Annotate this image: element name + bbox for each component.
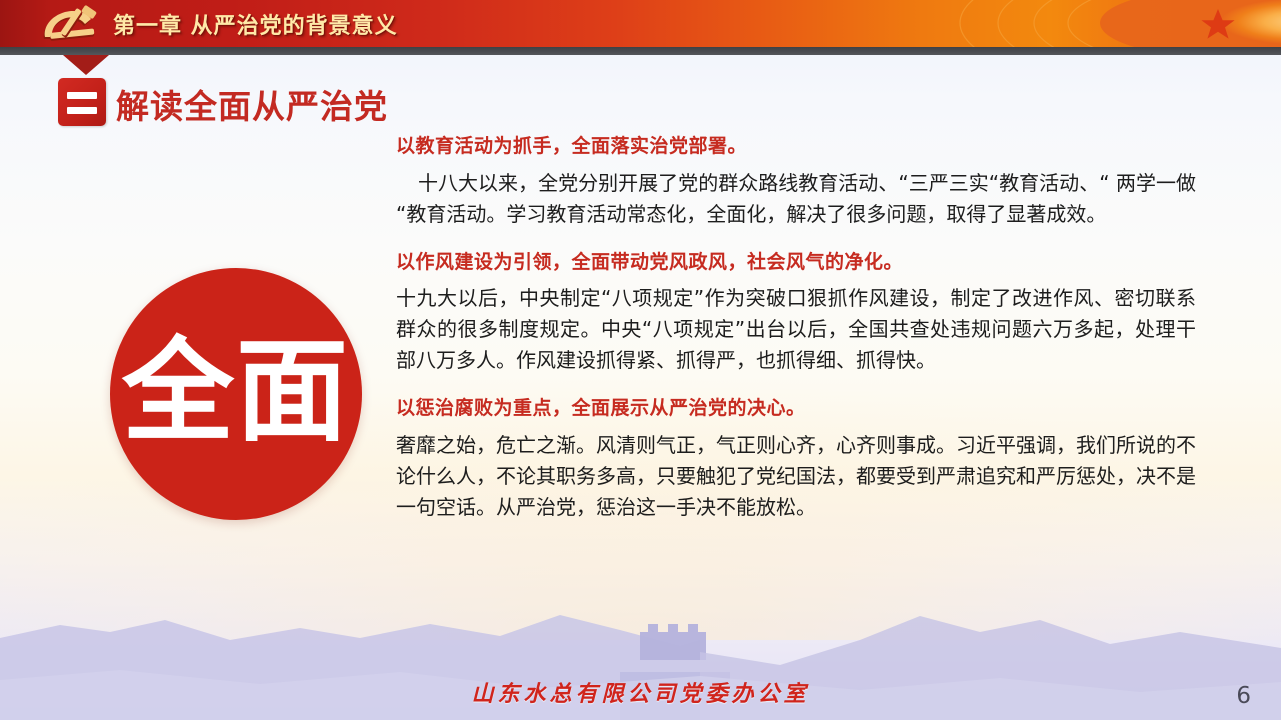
triangle-down-icon [63, 55, 109, 75]
chapter-header-bar: 第一章 从严治党的背景意义 [0, 0, 1281, 47]
content-block: 以教育活动为抓手，全面落实治党部署。 十八大以来，全党分别开展了党的群众路线教育… [396, 134, 1196, 230]
badge-stroke-bottom [67, 107, 97, 114]
content-block: 以惩治腐败为重点，全面展示从严治党的决心。 奢靡之始，危亡之渐。风清则气正，气正… [396, 396, 1196, 523]
badge-stroke-top [67, 92, 97, 99]
header-separator [0, 47, 1281, 55]
highlight-circle: 全面 [110, 268, 362, 520]
block-heading: 以作风建设为引领，全面带动党风政风，社会风气的净化。 [396, 250, 1196, 275]
block-body: 奢靡之始，危亡之渐。风清则气正，气正则心齐，心齐则事成。习近平强调，我们所说的不… [396, 430, 1196, 523]
block-body: 十九大以后，中央制定“八项规定”作为突破口狠抓作风建设，制定了改进作风、密切联系… [396, 283, 1196, 376]
block-heading: 以惩治腐败为重点，全面展示从严治党的决心。 [396, 396, 1196, 421]
highlight-circle-label: 全面 [122, 336, 350, 448]
page-number: 6 [1236, 683, 1251, 709]
footer-organization: 山东水总有限公司党委办公室 [0, 676, 1281, 708]
slide-root: 第一章 从严治党的背景意义 解读全面从严治党 全面 以教育活动为抓手，全面落实治… [0, 0, 1281, 720]
chapter-title: 第一章 从严治党的背景意义 [113, 8, 398, 40]
section-number-badge [58, 78, 106, 126]
content-column: 以教育活动为抓手，全面落实治党部署。 十八大以来，全党分别开展了党的群众路线教育… [396, 134, 1196, 523]
hammer-sickle-icon [33, 3, 111, 45]
section-title: 解读全面从严治党 [116, 80, 388, 128]
block-body: 十八大以来，全党分别开展了党的群众路线教育活动、“三严三实“教育活动、“ 两学一… [396, 168, 1196, 230]
content-block: 以作风建设为引领，全面带动党风政风，社会风气的净化。 十九大以后，中央制定“八项… [396, 250, 1196, 377]
star-rays-icon [861, 0, 1281, 47]
block-heading: 以教育活动为抓手，全面落实治党部署。 [396, 134, 1196, 159]
